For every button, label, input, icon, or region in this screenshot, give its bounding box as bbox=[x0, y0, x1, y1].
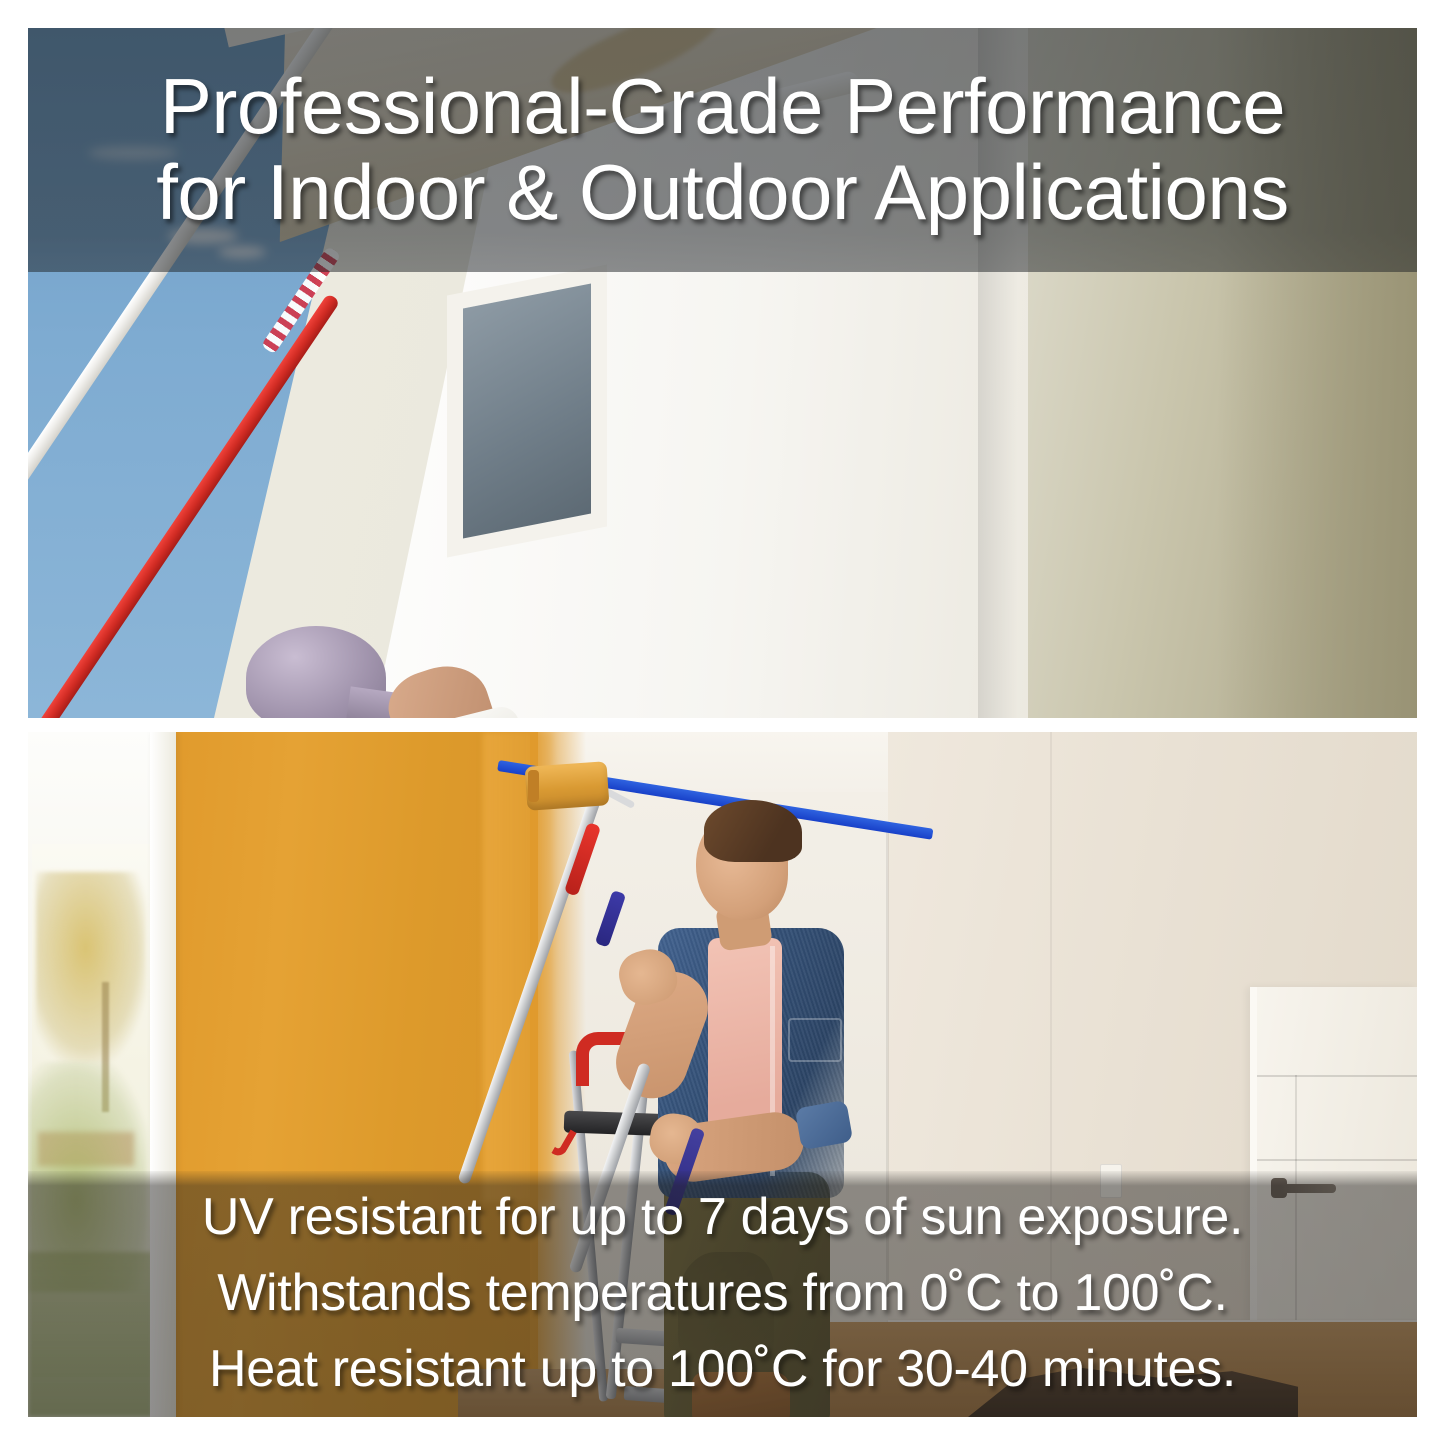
feature-line-heat: Heat resistant up to 100˚C for 30-40 min… bbox=[42, 1332, 1403, 1408]
shirt-pocket bbox=[788, 1018, 842, 1062]
man-hair bbox=[704, 800, 802, 862]
headline-line-1: Professional-Grade Performance bbox=[42, 64, 1403, 150]
feature-line-uv: UV resistant for up to 7 days of sun exp… bbox=[42, 1180, 1403, 1256]
exterior-window bbox=[463, 284, 591, 539]
top-image-panel: Professional-Grade Performance for Indoo… bbox=[28, 28, 1417, 718]
feature-line-temperature: Withstands temperatures from 0˚C to 100˚… bbox=[42, 1256, 1403, 1332]
ladder-hook bbox=[551, 1127, 576, 1159]
product-feature-page: Professional-Grade Performance for Indoo… bbox=[0, 0, 1445, 1445]
bottom-image-panel: UV resistant for up to 7 days of sun exp… bbox=[28, 732, 1417, 1417]
features-overlay-band: UV resistant for up to 7 days of sun exp… bbox=[28, 1171, 1417, 1417]
rolled-sleeve-cuff bbox=[795, 1100, 854, 1150]
headline-overlay-band: Professional-Grade Performance for Indoo… bbox=[28, 28, 1417, 272]
roller-end-cap bbox=[528, 770, 539, 802]
headline-line-2: for Indoor & Outdoor Applications bbox=[42, 150, 1403, 236]
